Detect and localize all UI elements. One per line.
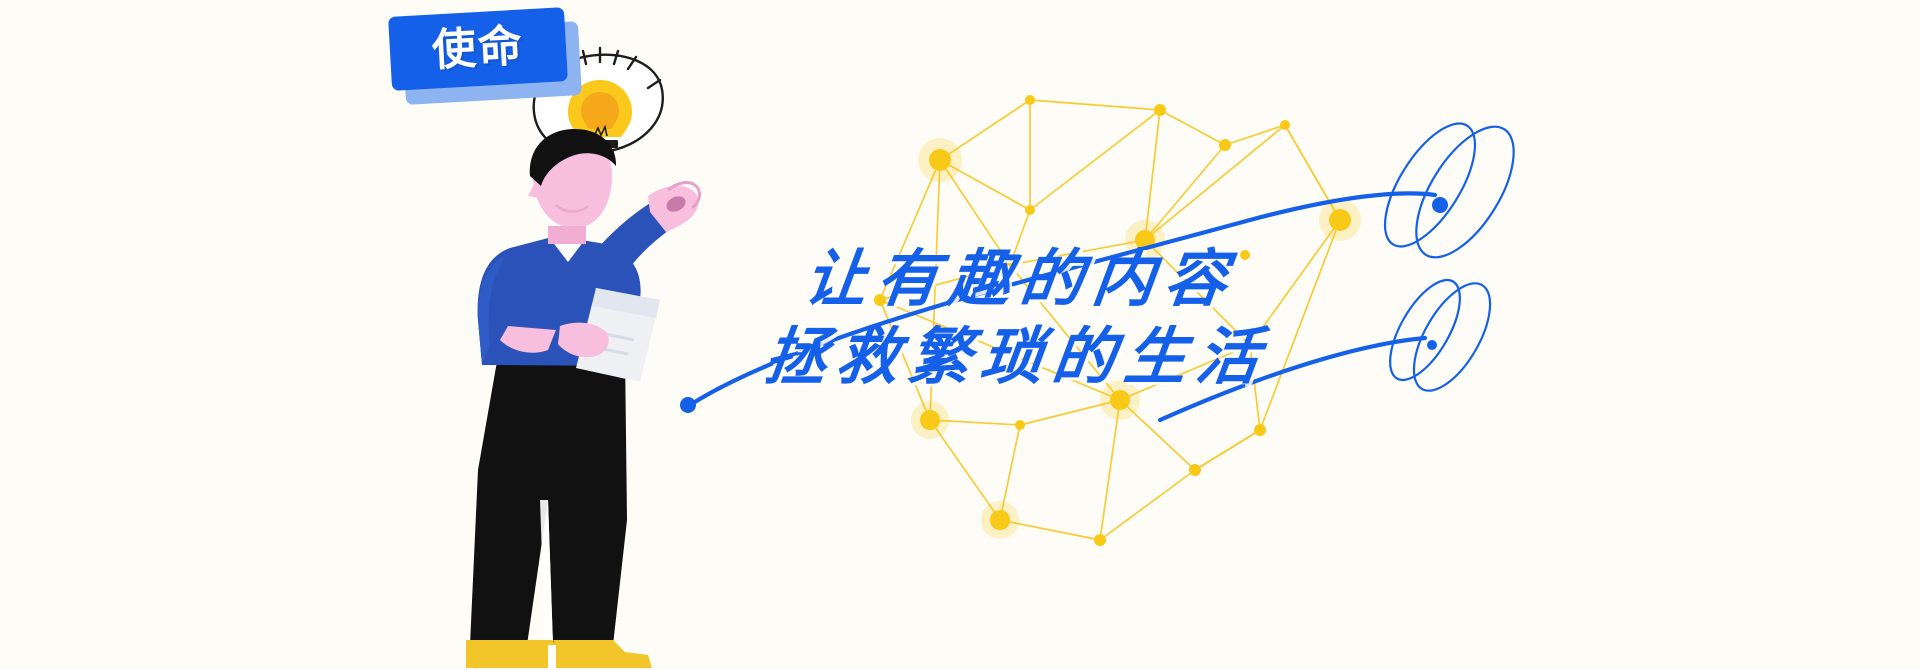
- banner-stage: 使命 让有趣的内容 拯救繁琐的生活: [0, 0, 1920, 670]
- person-legs: [470, 350, 627, 645]
- badge-surface: 使命: [388, 7, 568, 91]
- headline-line-1: 让有趣的内容: [800, 240, 1550, 318]
- badge-label: 使命: [431, 24, 525, 73]
- mission-badge[interactable]: 使命: [390, 12, 580, 107]
- headline-line-2: 拯救繁琐的生活: [760, 318, 1550, 396]
- person-pointing-arm: [596, 183, 699, 278]
- headline-block: 让有趣的内容 拯救繁琐的生活: [805, 240, 1545, 396]
- person-head: [528, 129, 616, 244]
- person-shoes: [466, 640, 652, 668]
